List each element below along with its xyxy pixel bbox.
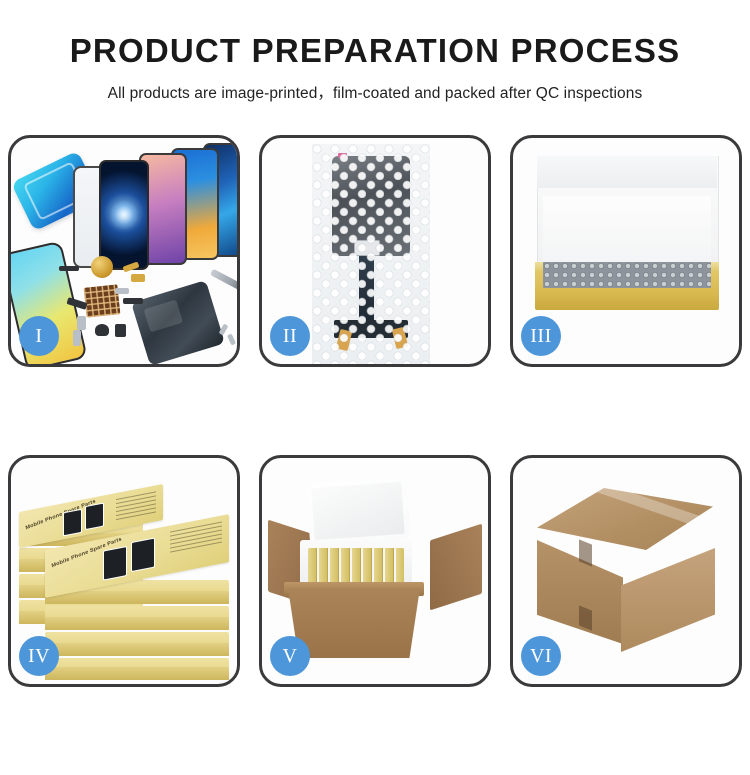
stacked-box-a5 xyxy=(45,658,229,680)
bubble-bag xyxy=(312,144,430,364)
box-spec-lines-1 xyxy=(116,491,156,525)
small-part-7 xyxy=(115,288,129,294)
box-phone-image-1b xyxy=(85,502,104,530)
box-phone-image-2b xyxy=(131,538,155,573)
copper-coil-part xyxy=(91,256,113,278)
phone-screen-2 xyxy=(99,160,149,270)
page-title: PRODUCT PREPARATION PROCESS xyxy=(0,34,750,67)
screw-1 xyxy=(219,323,229,335)
steps-row-top: I II xyxy=(0,135,750,367)
step-panel-4[interactable]: Mobile Phone Spare Parts Mobile Phone Sp… xyxy=(8,455,240,687)
phone-back-cover xyxy=(131,280,225,364)
step-badge-5: V xyxy=(270,636,310,676)
box-lid-flap xyxy=(537,156,717,188)
stacked-box-a3 xyxy=(45,606,229,630)
screwdriver-tool xyxy=(210,269,237,295)
box-phone-image-1a xyxy=(63,509,82,537)
step-badge-3: III xyxy=(521,316,561,356)
small-part-6 xyxy=(123,298,143,304)
small-part-5 xyxy=(77,316,86,330)
small-part-9 xyxy=(115,324,126,337)
step-panel-6[interactable]: VI xyxy=(510,455,742,687)
step-badge-2: II xyxy=(270,316,310,356)
carton-flap-right xyxy=(430,524,482,611)
steps-row-bottom: Mobile Phone Spare Parts Mobile Phone Sp… xyxy=(0,455,750,687)
page-subtitle: All products are image-printed，film-coat… xyxy=(0,81,750,103)
bubble-wrap-texture xyxy=(312,144,430,364)
steps-grid: I II xyxy=(0,135,750,775)
step-panel-3[interactable]: III xyxy=(510,135,742,367)
step-badge-6: VI xyxy=(521,636,561,676)
step-panel-1[interactable]: I xyxy=(8,135,240,367)
carton-right-face xyxy=(621,548,715,652)
box-phone-image-2a xyxy=(103,546,127,581)
page-header: PRODUCT PREPARATION PROCESS All products… xyxy=(0,0,750,103)
step-badge-4: IV xyxy=(19,636,59,676)
carton-seam-upper xyxy=(579,539,592,566)
small-part-10 xyxy=(73,330,81,346)
step-panel-2[interactable]: II xyxy=(259,135,491,367)
screw-2 xyxy=(227,333,236,345)
small-part-3 xyxy=(131,274,145,282)
small-part-1 xyxy=(59,266,79,271)
step-badge-1: I xyxy=(19,316,59,356)
box-spec-lines-2 xyxy=(170,521,222,557)
stacked-box-a4 xyxy=(45,632,229,656)
product-preparation-infographic: PRODUCT PREPARATION PROCESS All products… xyxy=(0,0,750,750)
grey-bubble-wrap-insert xyxy=(543,262,711,288)
step-panel-5[interactable]: V xyxy=(259,455,491,687)
styrofoam-lid xyxy=(306,477,410,546)
small-part-8 xyxy=(95,324,109,336)
